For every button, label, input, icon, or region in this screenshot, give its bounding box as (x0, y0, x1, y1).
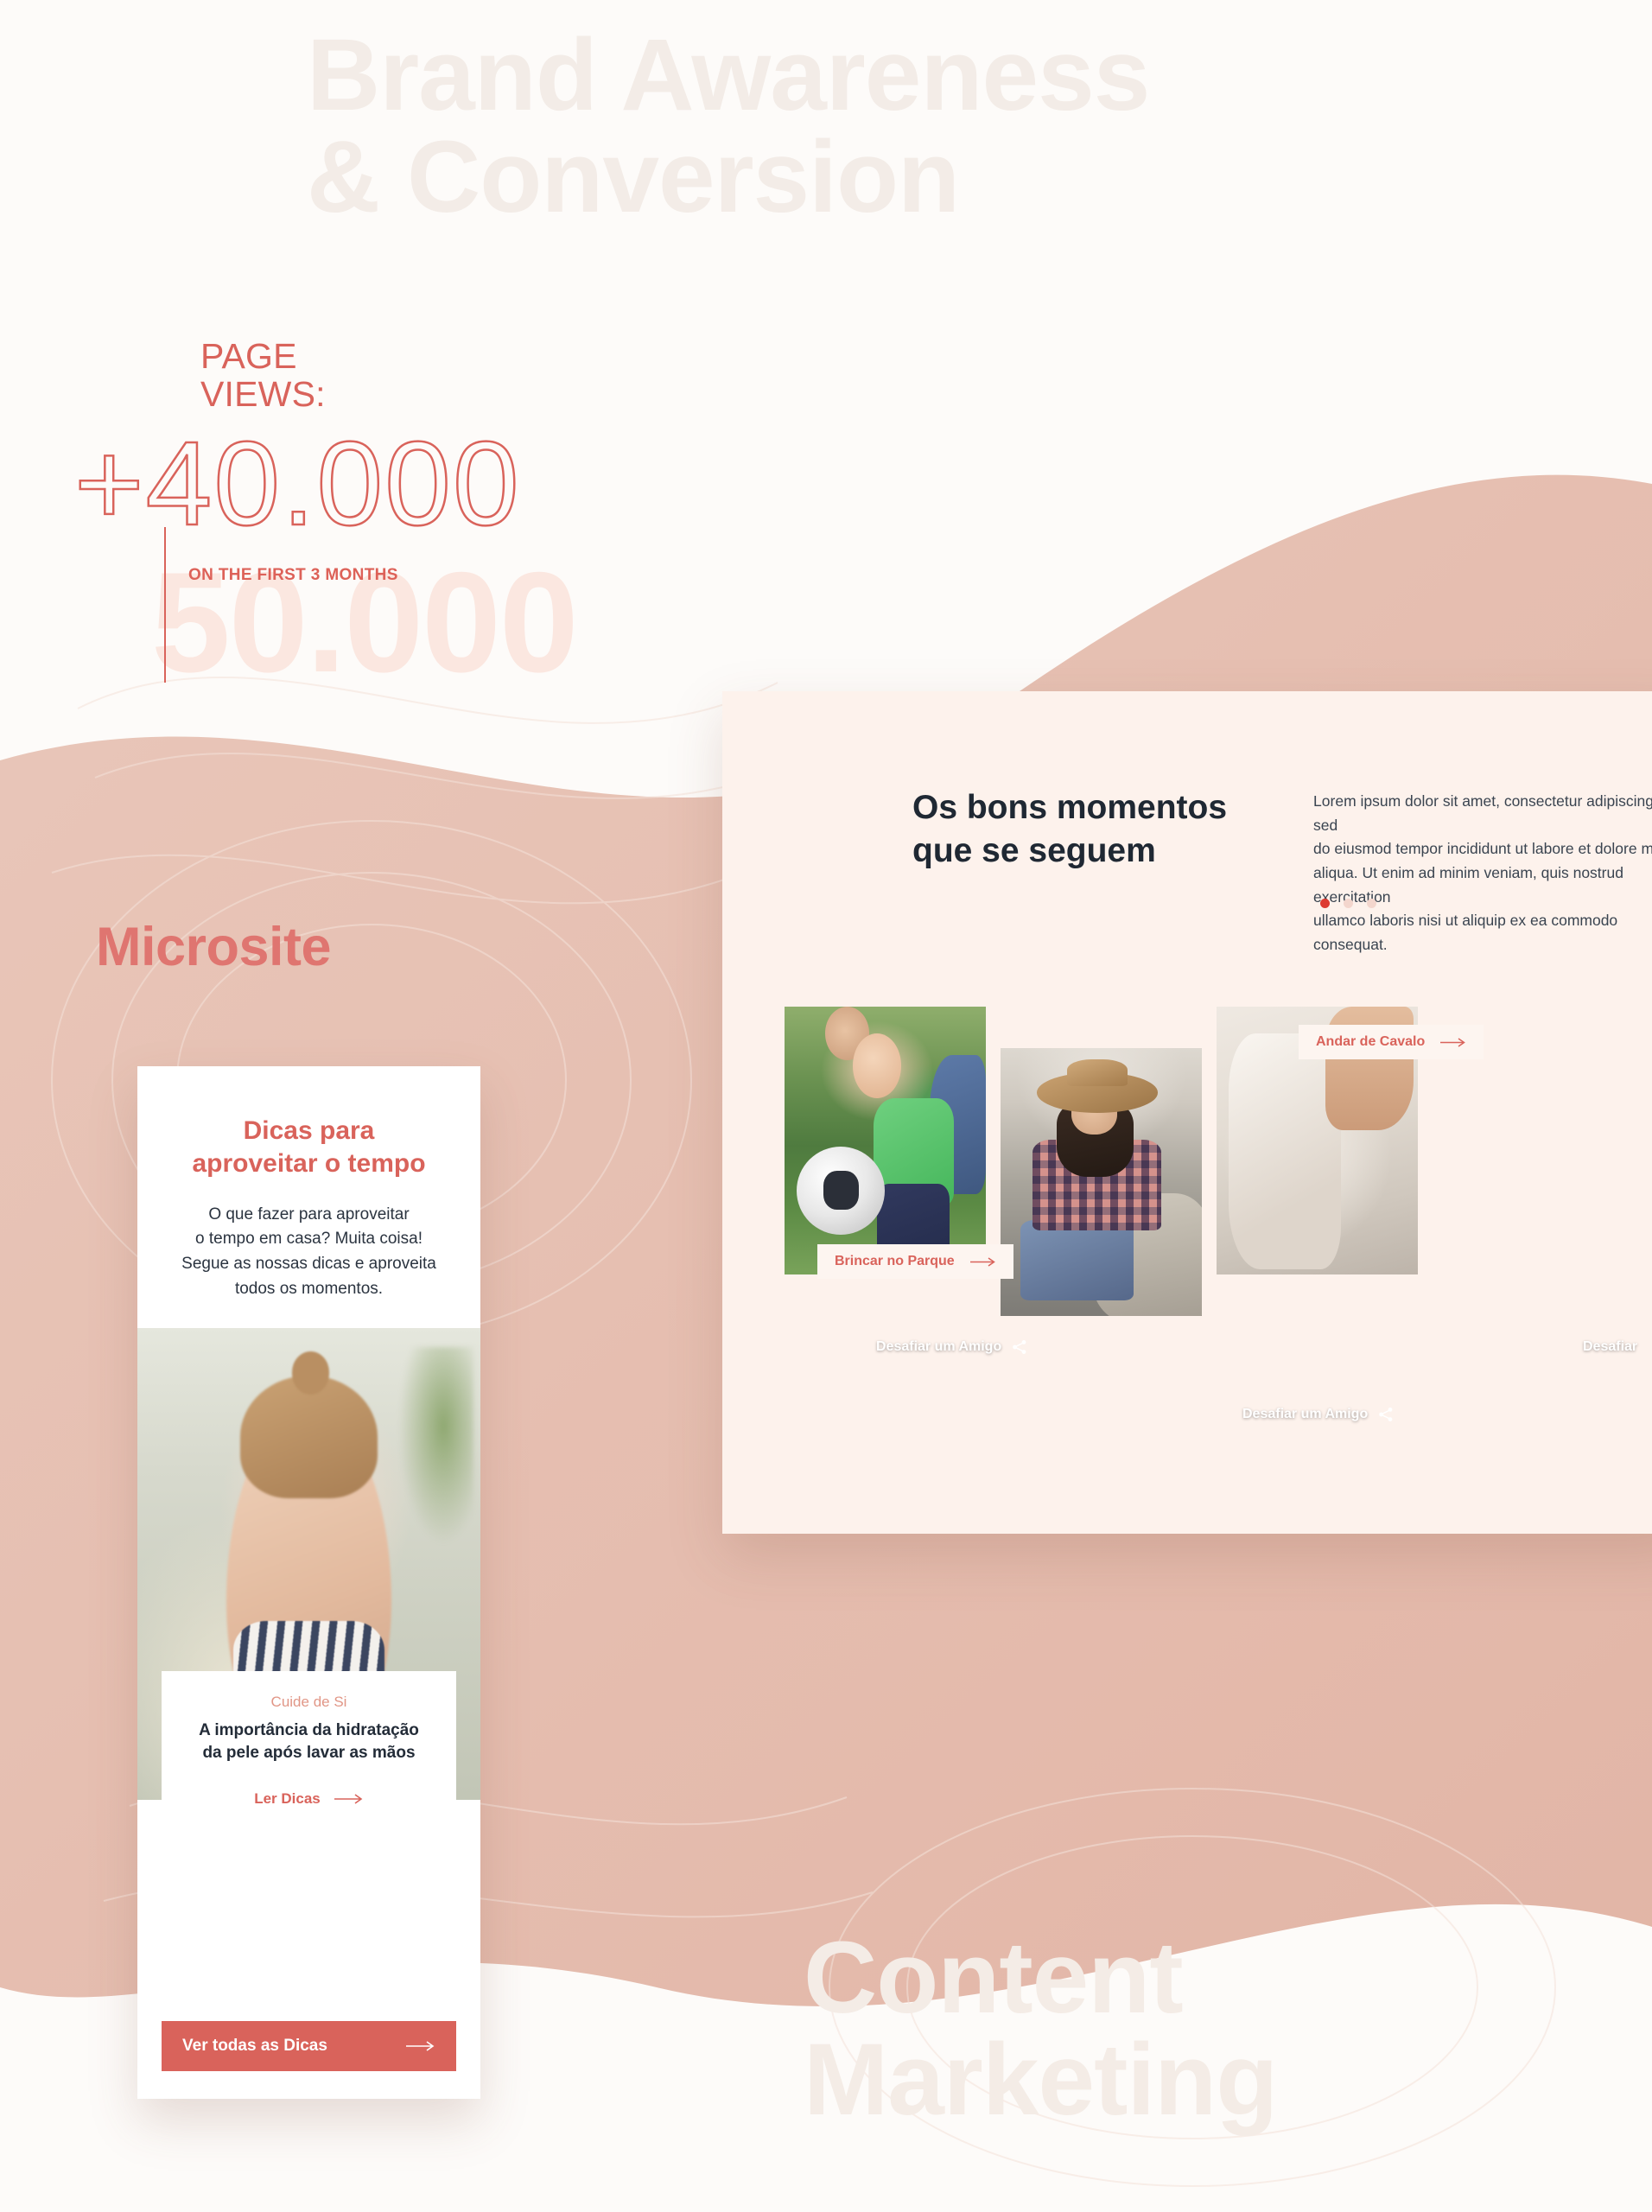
carousel-photo-2 (1001, 1048, 1202, 1316)
poster-canvas: Brand Awareness & Conversion 50.000 PAGE… (0, 0, 1652, 2212)
arrow-right-icon (406, 2041, 435, 2051)
desktop-card-carousel (722, 1007, 1652, 1370)
mobile-tip-panel: Cuide de Si A importância da hidratação … (162, 1671, 456, 1834)
carousel-item-2[interactable] (1001, 1048, 1202, 1316)
carousel-overlay-3[interactable]: Desafiar (1583, 1339, 1637, 1355)
page-views-value: +40.000 (74, 424, 521, 543)
carousel-overlay-3-label: Desafiar (1583, 1339, 1637, 1355)
carousel-overlay-2-label: Desafiar um Amigo (1242, 1407, 1368, 1422)
mobile-tip-read-link[interactable]: Ler Dicas (254, 1790, 364, 1808)
carousel-overlay-2[interactable]: Desafiar um Amigo (1242, 1407, 1394, 1422)
mobile-card-title: Dicas para aproveitar o tempo (160, 1115, 458, 1180)
desktop-body-text: Lorem ipsum dolor sit amet, consectetur … (1313, 786, 1652, 957)
mobile-card-header: Dicas para aproveitar o tempo O que faze… (137, 1066, 480, 1302)
carousel-overlay-1[interactable]: Desafiar um Amigo (876, 1339, 1027, 1355)
mobile-cta-button[interactable]: Ver todas as Dicas (162, 2021, 456, 2071)
carousel-dots[interactable] (1320, 899, 1376, 908)
section-label-microsite: Microsite (96, 916, 331, 978)
mobile-tip-link-label: Ler Dicas (254, 1790, 321, 1808)
mobile-tip-title: A importância da hidratação da pele após… (174, 1719, 444, 1764)
stats-block: PAGE VIEWS: +40.000 ON THE FIRST 3 MONTH… (74, 337, 521, 585)
watermark-content-marketing: Content Marketing (804, 1927, 1277, 2131)
mobile-tip-kicker: Cuide de Si (174, 1694, 444, 1711)
carousel-pill-1-label: Brincar no Parque (835, 1254, 955, 1269)
page-views-caption: ON THE FIRST 3 MONTHS (188, 566, 521, 585)
carousel-photo-1 (785, 1007, 986, 1274)
vertical-divider-rule (164, 527, 166, 683)
desktop-header: Os bons momentos que se seguem Lorem ips… (722, 691, 1652, 957)
carousel-pill-1[interactable]: Brincar no Parque (817, 1244, 1013, 1279)
page-views-label: PAGE VIEWS: (200, 337, 521, 414)
carousel-overlay-1-label: Desafiar um Amigo (876, 1339, 1001, 1355)
mobile-card-subtitle: O que fazer para aproveitar o tempo em c… (160, 1203, 458, 1303)
watermark-brand-awareness: Brand Awareness & Conversion (307, 24, 1149, 228)
carousel-item-1[interactable] (785, 1007, 986, 1274)
arrow-right-icon (1440, 1038, 1466, 1047)
desktop-mockup-card: Os bons momentos que se seguem Lorem ips… (722, 691, 1652, 1534)
arrow-right-icon (970, 1257, 996, 1267)
carousel-dot-3[interactable] (1367, 899, 1376, 908)
carousel-pill-2-label: Andar de Cavalo (1316, 1034, 1425, 1050)
arrow-right-icon (334, 1794, 364, 1804)
share-icon (1012, 1339, 1027, 1355)
share-icon (1378, 1407, 1394, 1422)
carousel-dot-2[interactable] (1344, 899, 1353, 908)
mobile-cta-label: Ver todas as Dicas (182, 2037, 327, 2056)
carousel-pill-2[interactable]: Andar de Cavalo (1299, 1025, 1484, 1059)
carousel-dot-1[interactable] (1320, 899, 1330, 908)
desktop-title: Os bons momentos que se seguem (912, 786, 1227, 957)
mobile-mockup-card: Dicas para aproveitar o tempo O que faze… (137, 1066, 480, 2099)
